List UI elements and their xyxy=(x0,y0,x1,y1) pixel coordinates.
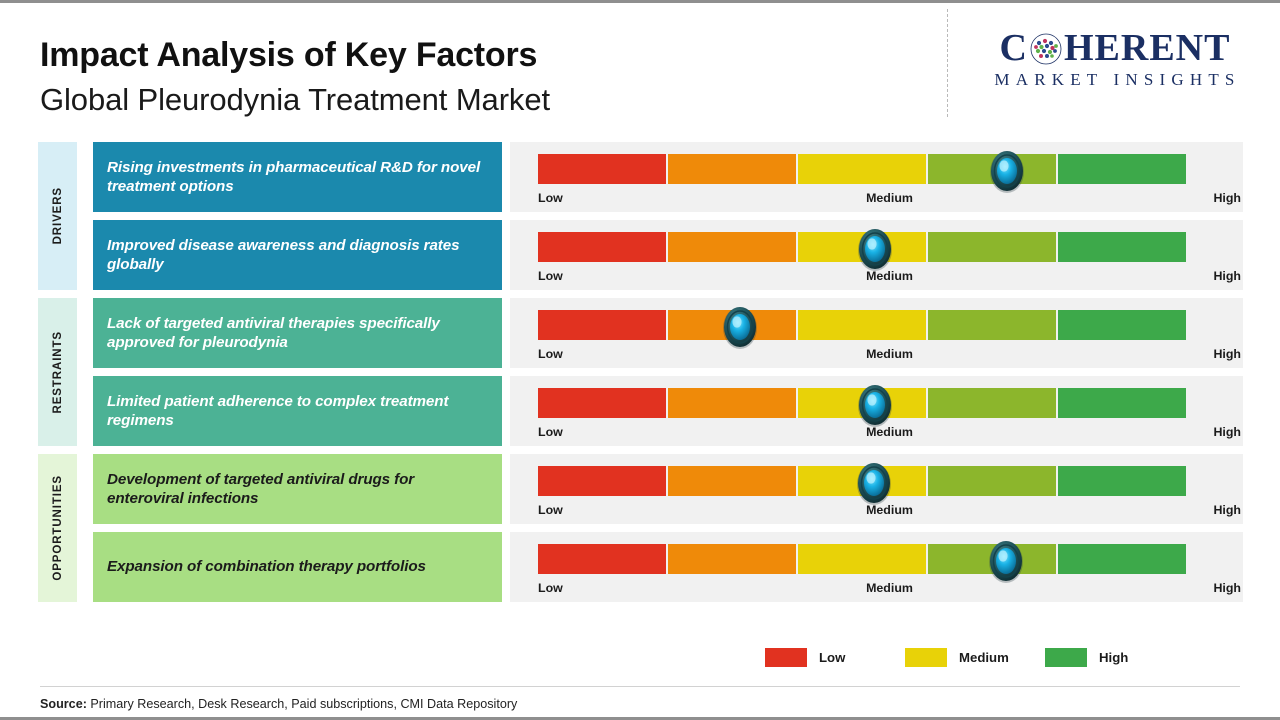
gauge-segment-green xyxy=(1058,544,1186,574)
gauge-segment-green xyxy=(1058,466,1186,496)
gauge-segment-yellowgreen xyxy=(928,232,1056,262)
impact-marker[interactable] xyxy=(854,226,896,272)
legend-swatch xyxy=(765,648,807,667)
gauge-bar xyxy=(538,544,1186,574)
factor-row: Lack of targeted antiviral therapies spe… xyxy=(0,298,1280,368)
impact-marker[interactable] xyxy=(986,148,1028,194)
gauge-segment-green xyxy=(1058,154,1186,184)
factor-text: Improved disease awareness and diagnosis… xyxy=(107,236,488,275)
gauge-segment-yellowgreen xyxy=(928,466,1056,496)
legend-item: Low xyxy=(765,648,905,667)
factor-group: RESTRAINTSLack of targeted antiviral the… xyxy=(0,298,1280,446)
tick-low: Low xyxy=(538,269,563,283)
gauge-segment-orange xyxy=(668,232,796,262)
tick-high: High xyxy=(1213,347,1241,361)
gauge-segment-orange xyxy=(668,544,796,574)
gauge-segment-red xyxy=(538,544,666,574)
page-subtitle: Global Pleurodynia Treatment Market xyxy=(40,81,550,120)
company-logo: C xyxy=(965,29,1265,90)
logo-wordmark: C xyxy=(965,29,1265,67)
factor-row: Limited patient adherence to complex tre… xyxy=(0,376,1280,446)
legend-label: Low xyxy=(819,650,845,665)
impact-matrix: DRIVERSRising investments in pharmaceuti… xyxy=(0,142,1280,610)
gauge-bar xyxy=(538,310,1186,340)
gauge-ticks: LowMediumHigh xyxy=(538,189,1241,207)
gauge-ticks: LowMediumHigh xyxy=(538,579,1241,597)
gauge-segment-green xyxy=(1058,388,1186,418)
impact-gauge: LowMediumHigh xyxy=(510,454,1243,524)
logo-wordmark-rest: HERENT xyxy=(1064,29,1230,67)
gauge-segment-red xyxy=(538,466,666,496)
logo-tagline: MARKET INSIGHTS xyxy=(965,70,1265,90)
factor-row: Development of targeted antiviral drugs … xyxy=(0,454,1280,524)
factor-box[interactable]: Rising investments in pharmaceutical R&D… xyxy=(93,142,502,212)
tick-low: Low xyxy=(538,191,563,205)
factor-row: Rising investments in pharmaceutical R&D… xyxy=(0,142,1280,212)
tick-medium: Medium xyxy=(866,191,913,205)
gauge-segment-green xyxy=(1058,310,1186,340)
gauge-segment-yellowgreen xyxy=(928,388,1056,418)
legend-item: High xyxy=(1045,648,1185,667)
tick-high: High xyxy=(1213,503,1241,517)
gauge-segment-red xyxy=(538,232,666,262)
legend-label: High xyxy=(1099,650,1128,665)
source-note: Source: Primary Research, Desk Research,… xyxy=(40,697,517,711)
factor-text: Lack of targeted antiviral therapies spe… xyxy=(107,314,488,353)
impact-marker[interactable] xyxy=(853,460,895,506)
footer-divider xyxy=(40,686,1240,687)
factor-text: Limited patient adherence to complex tre… xyxy=(107,392,488,431)
factor-box[interactable]: Development of targeted antiviral drugs … xyxy=(93,454,502,524)
tick-high: High xyxy=(1213,269,1241,283)
factor-group: DRIVERSRising investments in pharmaceuti… xyxy=(0,142,1280,290)
gauge-segment-orange xyxy=(668,466,796,496)
source-text: Primary Research, Desk Research, Paid su… xyxy=(87,697,517,711)
gauge-ticks: LowMediumHigh xyxy=(538,345,1241,363)
tick-low: Low xyxy=(538,425,563,439)
legend: LowMediumHigh xyxy=(765,648,1185,667)
factor-row: Expansion of combination therapy portfol… xyxy=(0,532,1280,602)
gauge-bar xyxy=(538,154,1186,184)
impact-gauge: LowMediumHigh xyxy=(510,376,1243,446)
gauge-segment-red xyxy=(538,154,666,184)
gauge-segment-green xyxy=(1058,232,1186,262)
factor-text: Expansion of combination therapy portfol… xyxy=(107,557,426,576)
impact-marker[interactable] xyxy=(985,538,1027,584)
impact-gauge: LowMediumHigh xyxy=(510,220,1243,290)
impact-gauge: LowMediumHigh xyxy=(510,298,1243,368)
legend-swatch xyxy=(1045,648,1087,667)
legend-label: Medium xyxy=(959,650,1009,665)
impact-gauge: LowMediumHigh xyxy=(510,532,1243,602)
factor-box[interactable]: Expansion of combination therapy portfol… xyxy=(93,532,502,602)
logo-letter-c: C xyxy=(1000,29,1028,67)
factor-group: OPPORTUNITIESDevelopment of targeted ant… xyxy=(0,454,1280,602)
tick-high: High xyxy=(1213,191,1241,205)
legend-item: Medium xyxy=(905,648,1045,667)
gauge-segment-orange xyxy=(668,388,796,418)
tick-medium: Medium xyxy=(866,347,913,361)
impact-marker[interactable] xyxy=(719,304,761,350)
header: Impact Analysis of Key Factors Global Pl… xyxy=(0,3,1280,135)
impact-marker[interactable] xyxy=(854,382,896,428)
gauge-segment-orange xyxy=(668,154,796,184)
tick-medium: Medium xyxy=(866,581,913,595)
factor-text: Development of targeted antiviral drugs … xyxy=(107,470,488,509)
gauge-segment-yellow xyxy=(798,310,926,340)
source-label: Source: xyxy=(40,697,87,711)
gauge-segment-red xyxy=(538,310,666,340)
factor-text: Rising investments in pharmaceutical R&D… xyxy=(107,158,488,197)
factor-box[interactable]: Improved disease awareness and diagnosis… xyxy=(93,220,502,290)
factor-box[interactable]: Lack of targeted antiviral therapies spe… xyxy=(93,298,502,368)
factor-row: Improved disease awareness and diagnosis… xyxy=(0,220,1280,290)
factor-box[interactable]: Limited patient adherence to complex tre… xyxy=(93,376,502,446)
title-block: Impact Analysis of Key Factors Global Pl… xyxy=(40,35,550,120)
tick-low: Low xyxy=(538,503,563,517)
gauge-segment-yellowgreen xyxy=(928,310,1056,340)
page-title: Impact Analysis of Key Factors xyxy=(40,35,550,75)
logo-divider xyxy=(947,9,948,117)
tick-low: Low xyxy=(538,581,563,595)
tick-high: High xyxy=(1213,425,1241,439)
impact-gauge: LowMediumHigh xyxy=(510,142,1243,212)
gauge-segment-red xyxy=(538,388,666,418)
globe-icon xyxy=(1029,32,1063,66)
gauge-segment-yellow xyxy=(798,544,926,574)
tick-low: Low xyxy=(538,347,563,361)
infographic-page: Impact Analysis of Key Factors Global Pl… xyxy=(0,0,1280,720)
gauge-segment-yellow xyxy=(798,154,926,184)
tick-high: High xyxy=(1213,581,1241,595)
legend-swatch xyxy=(905,648,947,667)
